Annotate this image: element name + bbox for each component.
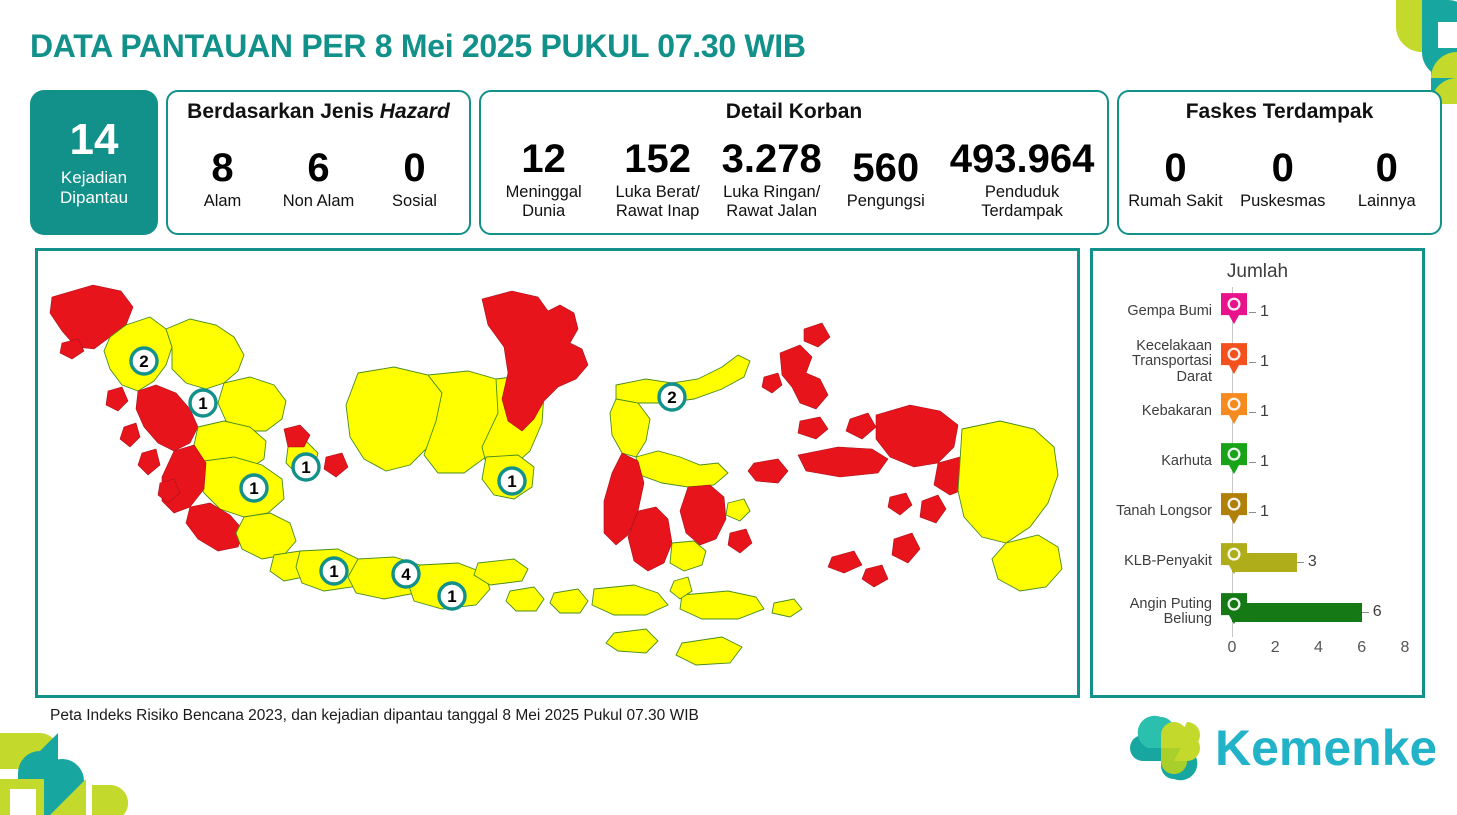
map-landmasses xyxy=(50,285,1062,665)
metric-penduduk-terdampak: 493.964 Penduduk Terdampak xyxy=(944,139,1101,220)
island-kei xyxy=(888,493,912,515)
marker-count: 2 xyxy=(139,352,148,371)
bar-category-label: Kecelakaan Transportasi Darat xyxy=(1093,339,1219,385)
bar-track: 1 xyxy=(1219,437,1414,487)
bar-track: 1 xyxy=(1219,387,1414,437)
metric-puskesmas-value: 0 xyxy=(1272,148,1294,188)
bar-track: 1 xyxy=(1219,287,1414,337)
marker-count: 4 xyxy=(401,565,411,584)
bar-value-connector xyxy=(1249,462,1256,463)
risk-index-map-panel[interactable]: 211112141 xyxy=(35,248,1080,698)
hazard-title-prefix: Berdasarkan Jenis xyxy=(187,100,380,123)
island-seram xyxy=(798,447,888,477)
metric-lainnya-label: Lainnya xyxy=(1358,192,1416,210)
bar-track: 1 xyxy=(1219,337,1414,387)
map-marker-jawa-tengah[interactable]: 4 xyxy=(393,561,419,587)
metric-luka-ringan-value: 3.278 xyxy=(722,139,822,179)
island-flores xyxy=(680,591,764,619)
map-marker-gorontalo[interactable]: 2 xyxy=(659,384,685,410)
island-sumba xyxy=(606,629,658,653)
chart-bar-row[interactable]: KLB-Penyakit3 xyxy=(1093,537,1414,587)
bar-value-connector xyxy=(1249,512,1256,513)
x-axis-tick: 4 xyxy=(1314,639,1323,657)
map-marker-kepulauan-riau[interactable]: 1 xyxy=(293,454,319,480)
metric-luka-berat-value: 152 xyxy=(624,139,691,179)
metric-pengungsi-value: 560 xyxy=(852,148,919,188)
chart-bar-row[interactable]: Kebakaran1 xyxy=(1093,387,1414,437)
island-wetar xyxy=(828,551,862,573)
metric-alam: 8 Alam xyxy=(177,148,269,210)
metric-meninggal-value: 12 xyxy=(521,139,566,179)
metric-luka-berat-label: Luka Berat/ Rawat Inap xyxy=(615,183,699,220)
bar-value-label: 1 xyxy=(1260,353,1269,371)
korban-panel-title: Detail Korban xyxy=(726,100,863,124)
faskes-metrics: 0 Rumah Sakit 0 Puskesmas 0 Lainnya xyxy=(1122,124,1436,233)
metric-sosial: 0 Sosial xyxy=(369,148,461,210)
marker-count: 1 xyxy=(447,587,456,606)
metric-non-alam-value: 6 xyxy=(307,148,329,188)
kejadian-dipantau-card: 14 Kejadian Dipantau xyxy=(30,90,158,235)
bar-category-label: Kebakaran xyxy=(1093,404,1219,419)
island-nias xyxy=(106,387,128,411)
summary-stat-row: 14 Kejadian Dipantau Berdasarkan Jenis H… xyxy=(30,90,1442,235)
landslide-icon xyxy=(1219,491,1249,527)
metric-non-alam: 6 Non Alam xyxy=(273,148,365,210)
page-title: DATA PANTAUAN PER 8 Mei 2025 PUKUL 07.30… xyxy=(30,28,806,65)
bar-value-label: 1 xyxy=(1260,503,1269,521)
province-papua-selatan xyxy=(992,535,1062,591)
marker-count: 2 xyxy=(667,388,676,407)
island-tanimbar xyxy=(892,533,920,563)
island-ternate xyxy=(762,373,782,393)
forest-fire-icon xyxy=(1219,441,1249,477)
marker-count: 1 xyxy=(198,394,207,413)
x-axis-tick: 0 xyxy=(1228,639,1237,657)
chart-body: Gempa Bumi1Kecelakaan Transportasi Darat… xyxy=(1093,287,1422,663)
island-mentawai-south xyxy=(138,449,160,475)
metric-lainnya: 0 Lainnya xyxy=(1337,148,1437,210)
bar-value-connector xyxy=(1297,562,1304,563)
island-bali xyxy=(506,587,544,611)
island-aru xyxy=(920,495,946,523)
x-axis-tick: 8 xyxy=(1401,639,1410,657)
province-riau-north xyxy=(166,319,244,389)
map-marker-riau[interactable]: 1 xyxy=(190,390,216,416)
corner-decoration-bottom-left xyxy=(0,729,132,815)
metric-alam-value: 8 xyxy=(211,148,233,188)
chart-bar-row[interactable]: Gempa Bumi1 xyxy=(1093,287,1414,337)
marker-count: 1 xyxy=(507,472,516,491)
metric-sosial-value: 0 xyxy=(403,148,425,188)
chart-bar-row[interactable]: Karhuta1 xyxy=(1093,437,1414,487)
bar-value-label: 1 xyxy=(1260,303,1269,321)
marker-count: 1 xyxy=(249,479,258,498)
island-alor xyxy=(772,599,802,617)
marker-count: 1 xyxy=(329,562,338,581)
island-buton xyxy=(728,529,752,553)
metric-lainnya-value: 0 xyxy=(1376,148,1398,188)
hazard-title-italic: Hazard xyxy=(380,100,450,123)
chart-bar-row[interactable]: Tanah Longsor1 xyxy=(1093,487,1414,537)
bar-fill xyxy=(1232,603,1362,622)
province-sumatera-barat xyxy=(136,385,198,451)
faskes-panel-title: Faskes Terdampak xyxy=(1186,100,1374,124)
bar-value-connector xyxy=(1249,312,1256,313)
disease-outbreak-icon xyxy=(1219,541,1249,577)
bar-value-label: 1 xyxy=(1260,403,1269,421)
chart-bar-row[interactable]: Angin Puting Beliung6 xyxy=(1093,587,1414,637)
island-timor xyxy=(676,637,742,665)
earthquake-icon xyxy=(1219,291,1249,327)
indonesia-risk-map[interactable]: 211112141 xyxy=(38,251,1077,695)
bar-value-connector xyxy=(1249,362,1256,363)
bar-category-label: Angin Puting Beliung xyxy=(1093,597,1219,627)
metric-luka-ringan: 3.278 Luka Ringan/ Rawat Jalan xyxy=(716,139,828,220)
kejadian-label: Kejadian Dipantau xyxy=(30,168,158,207)
metric-rumah-sakit-value: 0 xyxy=(1164,148,1186,188)
island-sumbawa xyxy=(592,585,668,615)
bar-category-label: Gempa Bumi xyxy=(1093,304,1219,319)
bar-category-label: Tanah Longsor xyxy=(1093,504,1219,519)
bar-track: 3 xyxy=(1219,537,1414,587)
metric-pengungsi-label: Pengungsi xyxy=(847,192,925,210)
island-morotai xyxy=(804,323,830,347)
metric-sosial-label: Sosial xyxy=(392,192,437,210)
metric-alam-label: Alam xyxy=(204,192,242,210)
bar-track: 6 xyxy=(1219,587,1414,637)
kemenkes-logo-mark xyxy=(1130,716,1200,781)
metric-puskesmas-label: Puskesmas xyxy=(1240,192,1325,210)
faskes-terdampak-panel: Faskes Terdampak 0 Rumah Sakit 0 Puskesm… xyxy=(1117,90,1442,235)
island-raja-ampat xyxy=(846,413,876,439)
marker-count: 1 xyxy=(301,458,310,477)
map-caption: Peta Indeks Risiko Bencana 2023, dan kej… xyxy=(50,707,699,725)
metric-penduduk-label: Penduduk Terdampak xyxy=(981,183,1063,220)
hazard-count-chart-panel: Jumlah Gempa Bumi1Kecelakaan Transportas… xyxy=(1090,248,1425,698)
metric-non-alam-label: Non Alam xyxy=(283,192,355,210)
island-belitung xyxy=(324,453,348,477)
tornado-icon xyxy=(1219,591,1249,627)
bar-category-label: KLB-Penyakit xyxy=(1093,554,1219,569)
province-sulawesi-tengah xyxy=(636,451,728,487)
bar-track: 1 xyxy=(1219,487,1414,537)
hazard-panel: Berdasarkan Jenis Hazard 8 Alam 6 Non Al… xyxy=(166,90,471,235)
hazard-panel-title: Berdasarkan Jenis Hazard xyxy=(187,100,450,124)
kejadian-count: 14 xyxy=(70,118,119,162)
island-muna xyxy=(726,499,750,521)
bar-value-label: 1 xyxy=(1260,453,1269,471)
bar-category-label: Karhuta xyxy=(1093,454,1219,469)
map-marker-kalimantan-selatan[interactable]: 1 xyxy=(499,468,525,494)
kemenkes-wordmark: Kemenkes xyxy=(1215,720,1435,776)
province-sulawesi-tengah-north xyxy=(610,399,650,457)
province-papua xyxy=(958,421,1058,543)
bar-value-label: 6 xyxy=(1373,603,1382,621)
metric-meninggal-label: Meninggal Dunia xyxy=(506,183,582,220)
province-lampung xyxy=(236,513,296,559)
bar-value-label: 3 xyxy=(1308,553,1317,571)
metric-luka-berat: 152 Luka Berat/ Rawat Inap xyxy=(602,139,714,220)
bar-value-connector xyxy=(1249,412,1256,413)
map-marker-aceh-sumut[interactable]: 2 xyxy=(131,348,157,374)
province-sulawesi-tenggara xyxy=(680,485,726,545)
fire-icon xyxy=(1219,391,1249,427)
metric-penduduk-value: 493.964 xyxy=(950,139,1095,179)
province-papua-barat xyxy=(876,405,958,467)
island-obi xyxy=(798,417,828,439)
kemenkes-logo: Kemenkes xyxy=(1105,709,1435,787)
map-marker-jawa-timur[interactable]: 1 xyxy=(439,583,465,609)
bar-value-connector xyxy=(1362,612,1369,613)
chart-x-axis: 02468 xyxy=(1232,637,1414,663)
hazard-metrics: 8 Alam 6 Non Alam 0 Sosial xyxy=(177,124,461,233)
island-mentawai-north xyxy=(120,423,140,447)
x-axis-tick: 6 xyxy=(1357,639,1366,657)
map-marker-jawa-barat[interactable]: 1 xyxy=(321,558,347,584)
x-axis-tick: 2 xyxy=(1271,639,1280,657)
metric-luka-ringan-label: Luka Ringan/ Rawat Jalan xyxy=(723,183,820,220)
detail-korban-panel: Detail Korban 12 Meninggal Dunia 152 Luk… xyxy=(479,90,1109,235)
metric-puskesmas: 0 Puskesmas xyxy=(1233,148,1333,210)
chart-title: Jumlah xyxy=(1093,261,1422,283)
chart-bar-rows: Gempa Bumi1Kecelakaan Transportasi Darat… xyxy=(1093,287,1414,637)
map-marker-sumsel[interactable]: 1 xyxy=(241,475,267,501)
island-buru xyxy=(748,459,788,483)
korban-metrics: 12 Meninggal Dunia 152 Luka Berat/ Rawat… xyxy=(488,124,1101,233)
metric-rumah-sakit-label: Rumah Sakit xyxy=(1128,192,1222,210)
province-sulawesi-selatan-east xyxy=(670,541,706,571)
island-lombok xyxy=(550,589,588,613)
road-accident-icon xyxy=(1219,341,1249,377)
metric-meninggal-dunia: 12 Meninggal Dunia xyxy=(488,139,600,220)
metric-pengungsi: 560 Pengungsi xyxy=(830,148,942,210)
island-halmahera xyxy=(780,345,828,409)
chart-bar-row[interactable]: Kecelakaan Transportasi Darat1 xyxy=(1093,337,1414,387)
metric-rumah-sakit: 0 Rumah Sakit xyxy=(1122,148,1228,210)
island-babar xyxy=(862,565,888,587)
